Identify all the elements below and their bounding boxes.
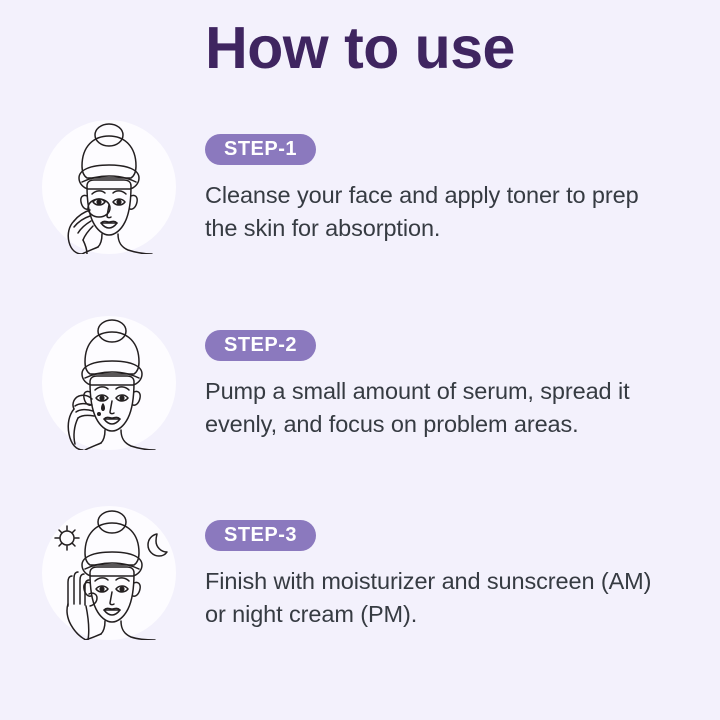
step-badge: STEP-3: [205, 520, 316, 551]
step-badge: STEP-1: [205, 134, 316, 165]
woman-applying-serum-icon: [42, 316, 176, 450]
step-illustration-moisturizer: [42, 506, 176, 640]
step-item: STEP-3 Finish with moisturizer and sunsc…: [0, 498, 720, 688]
woman-applying-cream-icon: [42, 506, 176, 640]
step-illustration-cleanse: [42, 120, 176, 254]
step-content: STEP-3 Finish with moisturizer and sunsc…: [205, 520, 675, 632]
page-title: How to use: [0, 16, 720, 81]
step-content: STEP-2 Pump a small amount of serum, spr…: [205, 330, 675, 442]
moon-icon: [148, 534, 167, 556]
step-badge: STEP-2: [205, 330, 316, 361]
step-content: STEP-1 Cleanse your face and apply toner…: [205, 134, 675, 246]
step-description: Pump a small amount of serum, spread it …: [205, 375, 665, 442]
step-description: Cleanse your face and apply toner to pre…: [205, 179, 665, 246]
step-description: Finish with moisturizer and sunscreen (A…: [205, 565, 665, 632]
woman-cleansing-face-icon: [42, 120, 176, 254]
step-item: STEP-1 Cleanse your face and apply toner…: [0, 112, 720, 302]
step-item: STEP-2 Pump a small amount of serum, spr…: [0, 308, 720, 498]
sun-icon: [55, 526, 79, 550]
step-illustration-serum: [42, 316, 176, 450]
how-to-use-infographic: How to use: [0, 0, 720, 720]
